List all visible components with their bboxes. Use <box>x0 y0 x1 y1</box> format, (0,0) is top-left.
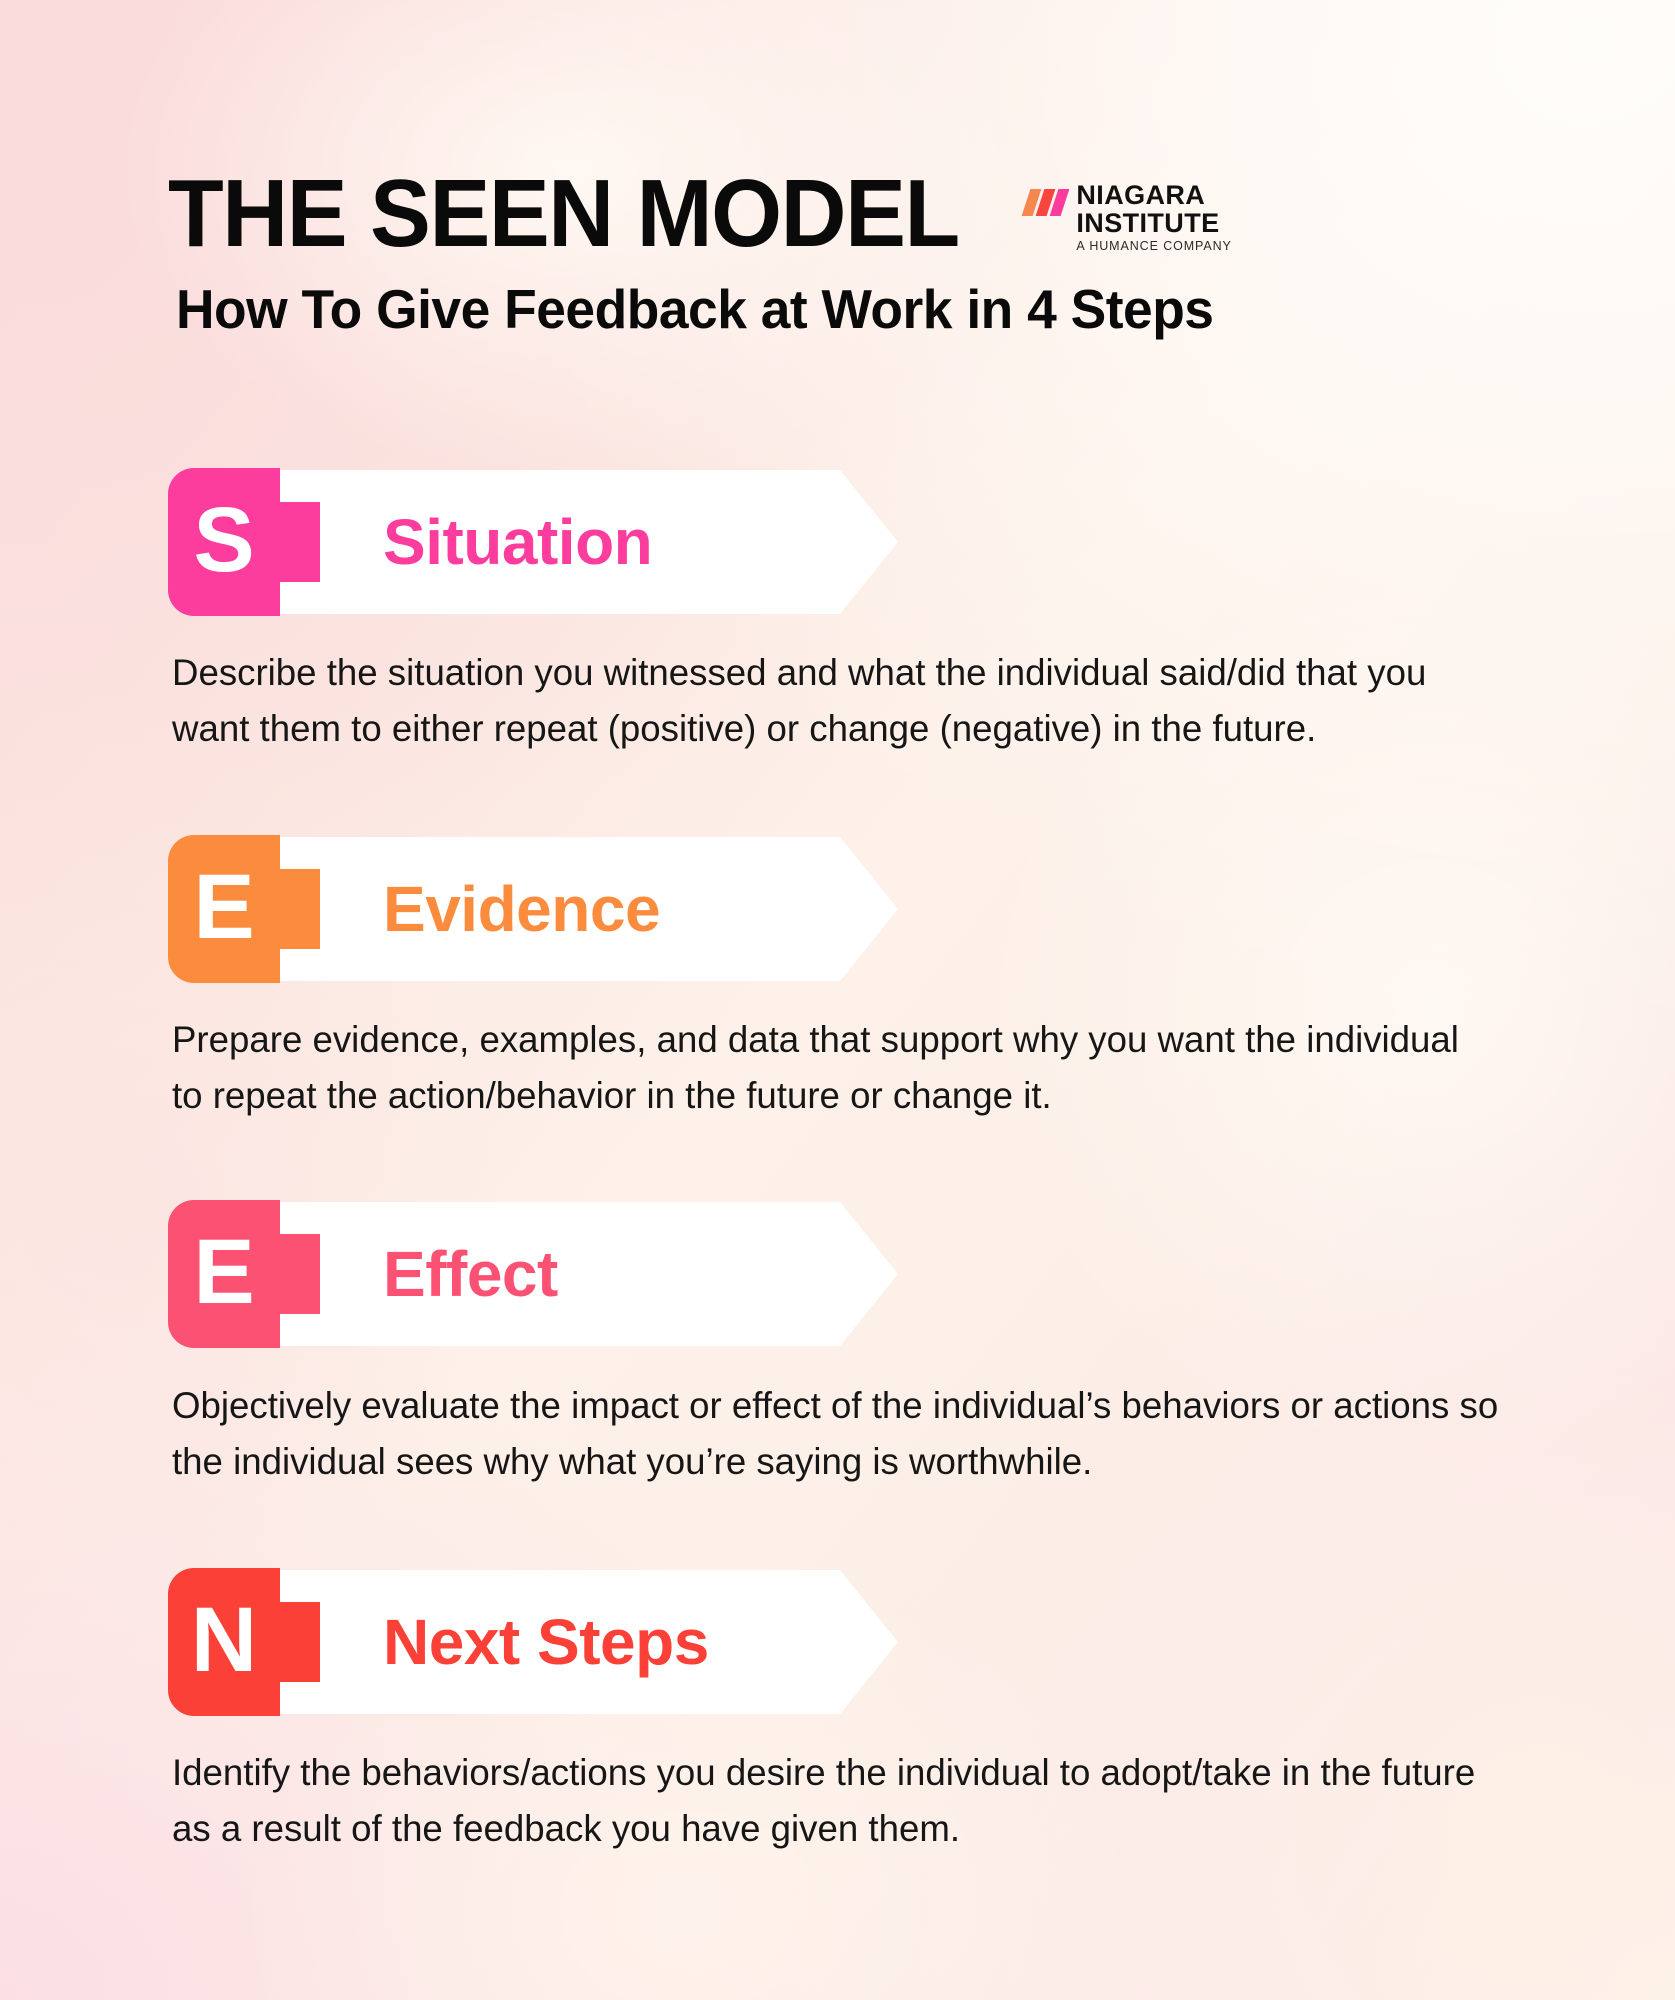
poster-canvas: THE SEEN MODEL NIAGARA INSTITUTE A HUMAN… <box>0 0 1675 2000</box>
step-letter: E <box>168 835 280 983</box>
step-next-steps: N Next Steps <box>0 1568 1675 1716</box>
step-description: Prepare evidence, examples, and data tha… <box>172 1012 1499 1123</box>
step-banner: S Situation <box>168 468 898 616</box>
page-subtitle: How To Give Feedback at Work in 4 Steps <box>176 282 1213 337</box>
step-banner-plate <box>224 1202 898 1346</box>
step-letter: S <box>168 468 280 616</box>
step-description: Describe the situation you witnessed and… <box>172 645 1499 756</box>
step-letter: N <box>168 1568 280 1716</box>
step-label: Evidence <box>383 835 660 989</box>
step-description: Objectively evaluate the impact or effec… <box>172 1378 1499 1489</box>
niagara-institute-logo: NIAGARA INSTITUTE A HUMANCE COMPANY <box>1026 182 1231 253</box>
step-label: Next Steps <box>383 1568 709 1722</box>
step-label: Effect <box>383 1200 558 1354</box>
logo-tagline: A HUMANCE COMPANY <box>1076 240 1231 253</box>
title-row: THE SEEN MODEL NIAGARA INSTITUTE A HUMAN… <box>168 170 1232 258</box>
step-letter: E <box>168 1200 280 1348</box>
logo-line-2: INSTITUTE <box>1076 210 1231 237</box>
step-description: Identify the behaviors/actions you desir… <box>172 1745 1499 1856</box>
logo-wordmark: NIAGARA INSTITUTE A HUMANCE COMPANY <box>1076 182 1231 253</box>
logo-line-1: NIAGARA <box>1076 182 1231 209</box>
background-highlight-e <box>1180 1480 1675 2000</box>
step-situation: S Situation <box>0 468 1675 616</box>
page-title: THE SEEN MODEL <box>168 170 959 258</box>
step-banner: E Evidence <box>168 835 898 983</box>
step-banner: E Effect <box>168 1200 898 1348</box>
step-effect: E Effect <box>0 1200 1675 1348</box>
step-evidence: E Evidence <box>0 835 1675 983</box>
step-label: Situation <box>383 468 652 622</box>
step-banner: N Next Steps <box>168 1568 898 1716</box>
logo-bars-icon <box>1026 189 1068 216</box>
